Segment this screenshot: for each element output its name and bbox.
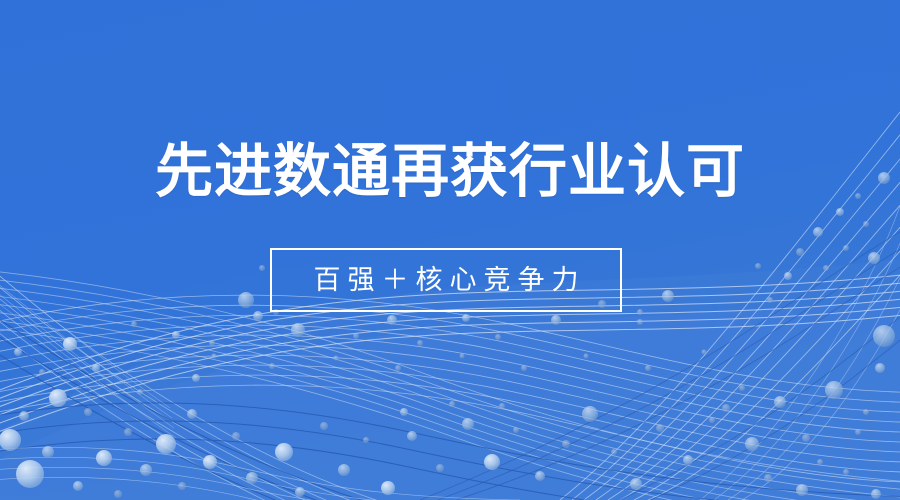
banner-title: 先进数通再获行业认可 [0,137,900,207]
banner-content: 先进数通再获行业认可 百强＋核心竞争力 [0,0,900,500]
banner-subtitle: 百强＋核心竞争力 [307,265,586,295]
promo-banner: 先进数通再获行业认可 百强＋核心竞争力 [0,0,900,500]
subtitle-frame: 百强＋核心竞争力 [270,248,622,312]
